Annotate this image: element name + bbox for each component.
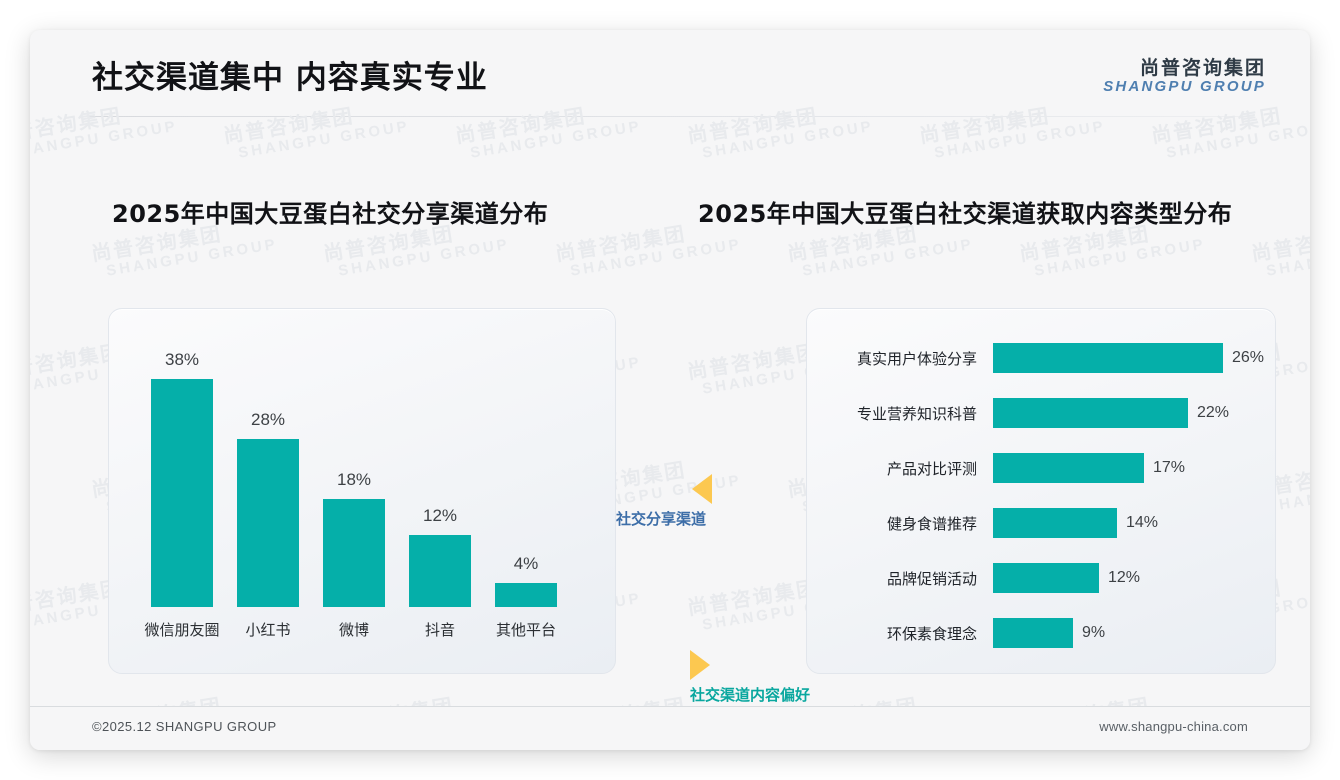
bar-row: 品牌促销活动12%	[807, 563, 1275, 593]
header-divider	[88, 116, 1254, 117]
page-title: 社交渠道集中 内容真实专业	[92, 52, 488, 97]
bar-value-label: 12%	[423, 506, 457, 526]
bar-group: 28%小红书	[237, 439, 299, 607]
bar-value-label: 26%	[1223, 349, 1264, 367]
bar-category-label: 微博	[339, 619, 369, 640]
slide-header: 社交渠道集中 内容真实专业 尚普咨询集团 SHANGPU GROUP	[30, 30, 1310, 122]
callout-top-label: 社交分享渠道	[616, 508, 712, 529]
brand-logo: 尚普咨询集团 SHANGPU GROUP	[1103, 58, 1266, 96]
logo-english-text: SHANGPU GROUP	[1103, 79, 1266, 96]
footer-website[interactable]: www.shangpu-china.com	[1099, 719, 1248, 734]
bar-value-label: 4%	[514, 554, 539, 574]
bar-category-label: 小红书	[245, 619, 290, 640]
bar-rect	[237, 439, 299, 607]
bar-group: 12%抖音	[409, 535, 471, 607]
callout-social-share-channel: 社交分享渠道	[616, 474, 712, 529]
bar-row: 专业营养知识科普22%	[807, 398, 1275, 428]
chart-title-right: 2025年中国大豆蛋白社交渠道获取内容类型分布	[698, 194, 1232, 229]
bar-row: 真实用户体验分享26%	[807, 343, 1275, 373]
chart-panel-right: 真实用户体验分享26%专业营养知识科普22%产品对比评测17%健身食谱推荐14%…	[806, 308, 1276, 674]
callout-content-preference: 社交渠道内容偏好	[690, 650, 810, 705]
bar-value-label: 9%	[1073, 624, 1105, 642]
bar-rect	[993, 453, 1144, 483]
bar-rect	[993, 563, 1099, 593]
callout-bottom-label: 社交渠道内容偏好	[690, 684, 810, 705]
bar-rect	[495, 583, 557, 607]
bar-category-label: 抖音	[425, 619, 455, 640]
chart-title-left: 2025年中国大豆蛋白社交分享渠道分布	[112, 194, 548, 229]
bar-value-label: 22%	[1188, 404, 1229, 422]
bar-value-label: 18%	[337, 470, 371, 490]
bar-rect	[993, 343, 1223, 373]
horizontal-bar-chart: 真实用户体验分享26%专业营养知识科普22%产品对比评测17%健身食谱推荐14%…	[807, 309, 1275, 673]
bar-group: 38%微信朋友圈	[151, 379, 213, 607]
triangle-right-icon	[690, 650, 710, 680]
bar-category-label: 环保素食理念	[807, 623, 993, 644]
bar-row: 产品对比评测17%	[807, 453, 1275, 483]
bar-rect	[993, 618, 1073, 648]
bar-rect	[993, 398, 1188, 428]
bar-value-label: 38%	[165, 350, 199, 370]
slide-body: 2025年中国大豆蛋白社交分享渠道分布 2025年中国大豆蛋白社交渠道获取内容类…	[30, 122, 1310, 682]
triangle-left-icon	[692, 474, 712, 504]
bar-row: 健身食谱推荐14%	[807, 508, 1275, 538]
bar-rect	[993, 508, 1117, 538]
bar-value-label: 14%	[1117, 514, 1158, 532]
bar-category-label: 健身食谱推荐	[807, 513, 993, 534]
bar-category-label: 微信朋友圈	[144, 619, 219, 640]
logo-chinese-text: 尚普咨询集团	[1103, 58, 1266, 79]
bar-category-label: 真实用户体验分享	[807, 348, 993, 369]
bar-group: 4%其他平台	[495, 583, 557, 607]
chart-panel-left: 38%微信朋友圈28%小红书18%微博12%抖音4%其他平台	[108, 308, 616, 674]
bar-category-label: 专业营养知识科普	[807, 403, 993, 424]
bar-category-label: 其他平台	[496, 619, 556, 640]
bar-rect	[151, 379, 213, 607]
bar-row: 环保素食理念9%	[807, 618, 1275, 648]
slide-canvas: 尚普咨询集团SHANGPU GROUP尚普咨询集团SHANGPU GROUP尚普…	[30, 30, 1310, 750]
bar-category-label: 产品对比评测	[807, 458, 993, 479]
slide-footer: ©2025.12 SHANGPU GROUP www.shangpu-china…	[30, 706, 1310, 750]
footer-copyright: ©2025.12 SHANGPU GROUP	[92, 719, 277, 734]
bar-value-label: 12%	[1099, 569, 1140, 587]
bar-value-label: 17%	[1144, 459, 1185, 477]
vertical-bar-chart: 38%微信朋友圈28%小红书18%微博12%抖音4%其他平台	[109, 309, 615, 673]
bar-rect	[409, 535, 471, 607]
bar-category-label: 品牌促销活动	[807, 568, 993, 589]
bar-group: 18%微博	[323, 499, 385, 607]
bar-value-label: 28%	[251, 410, 285, 430]
bar-rect	[323, 499, 385, 607]
